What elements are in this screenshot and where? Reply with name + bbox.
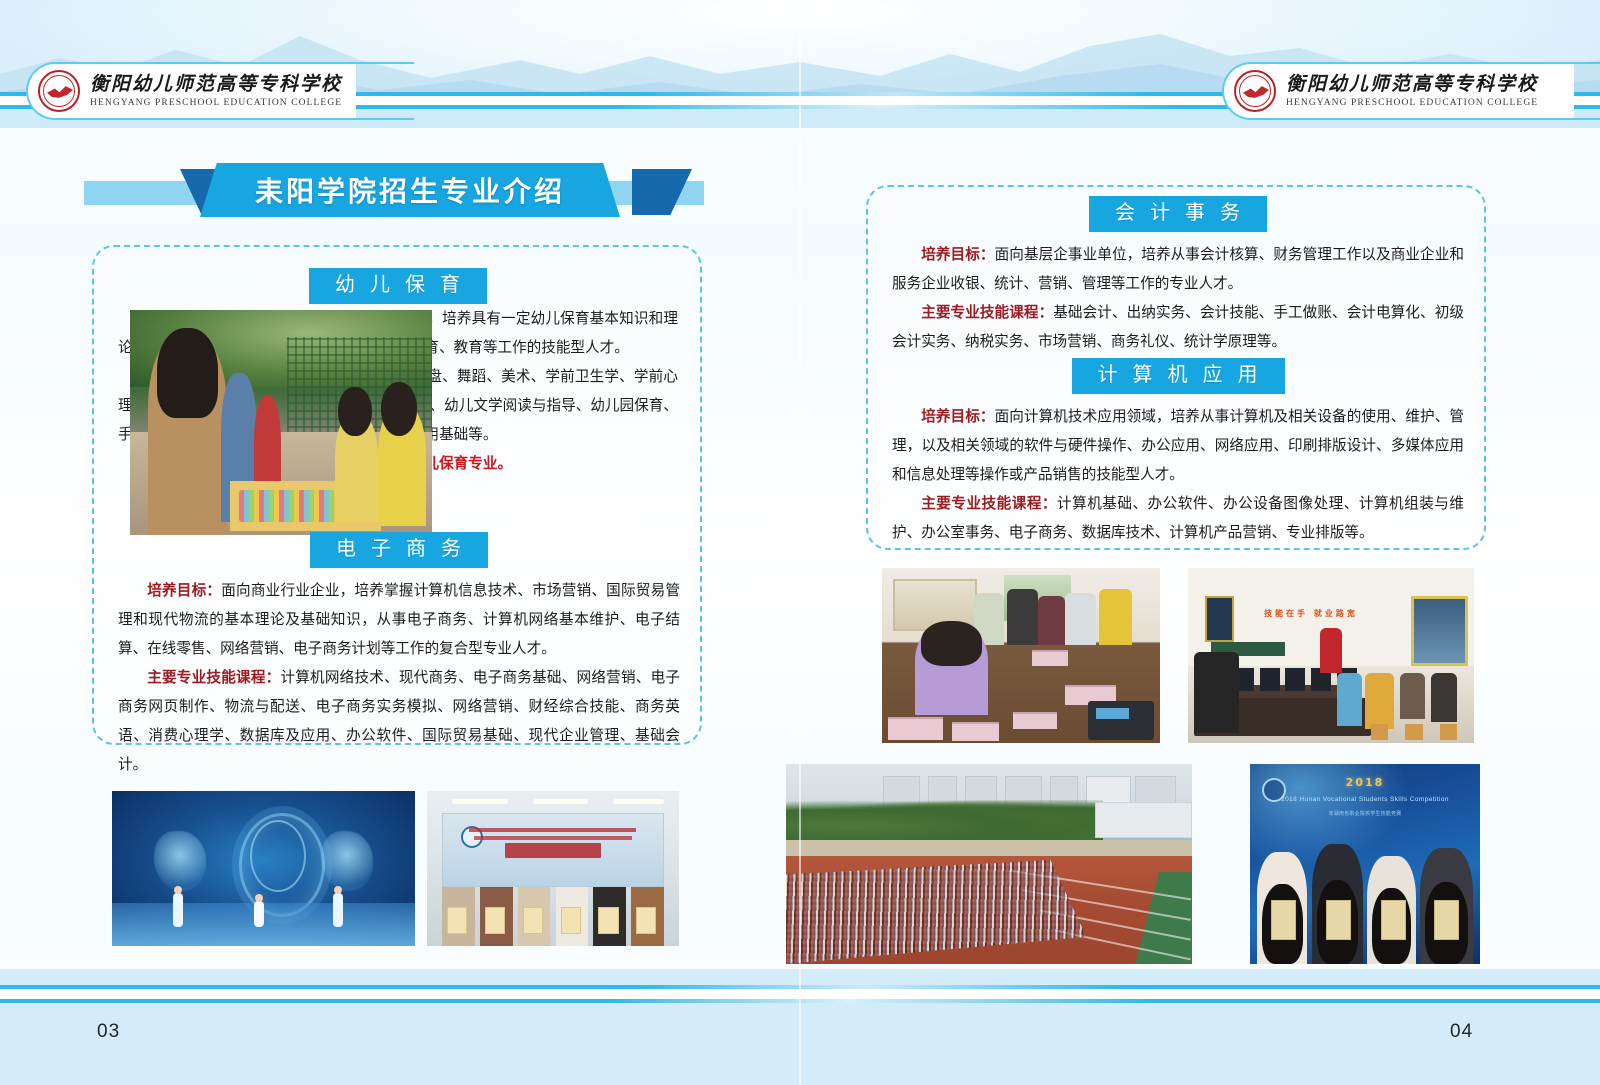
school-building xyxy=(1095,802,1192,838)
computer-lab-photo: 技能在手 就业路宽 xyxy=(1188,568,1474,743)
brochure-page: 衡阳幼儿师范高等专科学校 HENGYANG PRESCHOOL EDUCATIO… xyxy=(0,0,1600,1085)
students-skills-competition-award-photo: 2018 2018 Hunan Vocational Students Skil… xyxy=(1250,764,1480,964)
accounting-cash-counting-practice-photo xyxy=(882,568,1160,743)
student xyxy=(1038,596,1066,645)
major-courses-paragraph: 主要专业技能课程：计算机基础、办公软件、办公设备图像处理、计算机组装与维护、办公… xyxy=(892,489,1464,547)
logo-plate-tail-right xyxy=(1574,62,1600,120)
courses-label: 主要专业技能课程： xyxy=(147,669,280,686)
kindergarten-handicraft-activity-photo xyxy=(130,310,432,535)
major-courses-paragraph: 主要专业技能课程：计算机网络技术、现代商务、电子商务基础、网络营销、电子商务网页… xyxy=(118,663,680,779)
award-banner-title-cn: 年湖南省职业院校学生技能竞赛 xyxy=(1273,810,1457,819)
certificate xyxy=(561,907,581,933)
logo-plate-tail-left xyxy=(356,62,414,120)
badge-row: 计 算 机 应 用 xyxy=(892,358,1464,394)
school-crest-icon xyxy=(1234,70,1276,112)
certificate xyxy=(485,907,505,933)
retaining-wall xyxy=(786,840,1192,856)
monitor xyxy=(1260,668,1280,691)
school-name-cn: 衡阳幼儿师范高等专科学校 xyxy=(1286,74,1538,96)
certificate xyxy=(1381,900,1406,940)
banknote-stack xyxy=(1013,712,1057,730)
cash-counting-machine xyxy=(1088,701,1155,740)
ceremony-backdrop-banner xyxy=(442,813,664,887)
certificate xyxy=(1271,900,1296,940)
monitor xyxy=(1285,668,1305,691)
wall-board xyxy=(1205,596,1234,642)
student xyxy=(1431,673,1457,722)
certificate xyxy=(598,907,618,933)
performer xyxy=(173,893,183,927)
student xyxy=(1337,673,1363,726)
teacher xyxy=(1320,628,1343,674)
major-badge-preschool-care: 幼 儿 保 育 xyxy=(309,268,487,304)
major-badge-ecommerce: 电 子 商 务 xyxy=(310,532,488,568)
student xyxy=(1065,593,1096,646)
goal-label: 培养目标： xyxy=(921,246,994,263)
school-logo-right: 衡阳幼儿师范高等专科学校 HENGYANG PRESCHOOL EDUCATIO… xyxy=(1222,62,1574,120)
certificate xyxy=(1434,900,1459,940)
performer xyxy=(333,893,343,927)
banknote-stack xyxy=(1032,650,1068,666)
student xyxy=(1400,673,1426,719)
banner-headline xyxy=(505,843,602,858)
major-badge-accounting: 会 计 事 务 xyxy=(1089,196,1267,232)
major-badge-computer-application: 计 算 机 应 用 xyxy=(1072,358,1285,394)
ceiling-lamp-icon xyxy=(613,799,663,804)
student xyxy=(1007,589,1038,645)
certificate xyxy=(1326,900,1351,940)
school-name-en: HENGYANG PRESCHOOL EDUCATION COLLEGE xyxy=(90,98,342,108)
stool xyxy=(1405,724,1422,740)
student xyxy=(1099,589,1132,645)
banner-text-line xyxy=(469,828,636,832)
major-block-ecommerce: 电 子 商 务 培养目标：面向商业行业企业，培养掌握计算机信息技术、市场营销、国… xyxy=(118,532,680,779)
campus-stadium-assembly-photo xyxy=(786,764,1192,964)
school-name-cn: 衡阳幼儿师范高等专科学校 xyxy=(90,74,342,96)
major-block-preschool-care: 幼 儿 保 育 xyxy=(118,268,678,478)
major-goal-paragraph: 培养目标：面向计算机技术应用领域，培养从事计算机及相关设备的使用、维护、管理，以… xyxy=(892,402,1464,489)
major-block-accounting: 会 计 事 务 培养目标：面向基层企事业单位，培养从事会计核算、财务管理工作以及… xyxy=(892,196,1464,356)
major-block-computer-application: 计 算 机 应 用 培养目标：面向计算机技术应用领域，培养从事计算机及相关设备的… xyxy=(892,358,1464,547)
ceiling-lamp-icon xyxy=(452,799,507,804)
page-title: 耒阳学院招生专业介绍 xyxy=(255,170,565,210)
performer xyxy=(254,901,264,927)
student-hair xyxy=(921,621,982,667)
award-banner-year: 2018 xyxy=(1268,776,1461,789)
badge-row: 会 计 事 务 xyxy=(892,196,1464,232)
tree-line xyxy=(786,800,1103,844)
school-logo-left: 衡阳幼儿师范高等专科学校 HENGYANG PRESCHOOL EDUCATIO… xyxy=(26,62,356,120)
goal-label: 培养目标： xyxy=(921,408,994,425)
stool xyxy=(1371,724,1388,740)
school-crest-icon xyxy=(38,70,80,112)
badge-row: 幼 儿 保 育 xyxy=(118,268,678,304)
certificate xyxy=(636,907,656,933)
badge-row: 电 子 商 务 xyxy=(118,532,680,568)
banner-text-line xyxy=(474,836,632,840)
stage-ring-inner-motif xyxy=(250,820,306,892)
banknote-stack xyxy=(888,717,944,740)
award-banner-title-en: 2018 Hunan Vocational Students Skills Co… xyxy=(1264,796,1466,803)
stage-performance-photo xyxy=(112,791,415,946)
page-number-left: 03 xyxy=(97,1021,120,1043)
student xyxy=(1194,652,1240,733)
skills-competition-closing-ceremony-photo xyxy=(427,791,679,946)
school-name-en: HENGYANG PRESCHOOL EDUCATION COLLEGE xyxy=(1286,98,1538,108)
major-goal-paragraph: 培养目标：面向基层企事业单位，培养从事会计核算、财务管理工作以及商业企业和服务企… xyxy=(892,240,1464,298)
section-title-ribbon: 耒阳学院招生专业介绍 xyxy=(84,163,704,215)
certificate xyxy=(447,907,467,933)
courses-label: 主要专业技能课程： xyxy=(921,495,1057,512)
ceiling-lamp-icon xyxy=(533,799,588,804)
student xyxy=(1365,673,1394,729)
certificate xyxy=(523,907,543,933)
major-goal-paragraph: 培养目标：面向商业行业企业，培养掌握计算机信息技术、市场营销、国际贸易管理和现代… xyxy=(118,576,680,663)
lab-wall-slogan: 技能在手 就业路宽 xyxy=(1245,608,1377,619)
major-courses-paragraph: 主要专业技能课程：基础会计、出纳实务、会计技能、手工做账、会计电算化、初级会计实… xyxy=(892,298,1464,356)
courses-label: 主要专业技能课程： xyxy=(921,304,1053,321)
goal-label: 培养目标： xyxy=(147,582,221,599)
ribbon-center: 耒阳学院招生专业介绍 xyxy=(200,163,620,217)
spread-gutter xyxy=(799,0,801,1085)
page-number-right: 04 xyxy=(1450,1021,1473,1043)
stool xyxy=(1440,724,1457,740)
window xyxy=(1411,596,1468,666)
banknote-stack xyxy=(952,722,999,741)
